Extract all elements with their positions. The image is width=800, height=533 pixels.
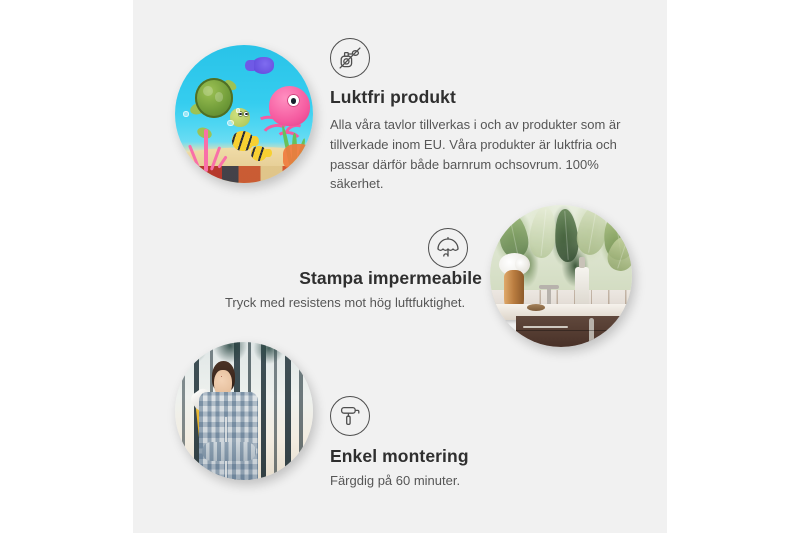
bathroom-artwork bbox=[490, 205, 632, 347]
turtle-shell bbox=[195, 78, 233, 118]
feature-description: Alla våra tavlor tillverkas i och av pro… bbox=[330, 115, 630, 194]
wallpaper-leaf bbox=[527, 206, 558, 259]
feature-title: Stampa impermeabile bbox=[200, 268, 490, 289]
umbrella-icon bbox=[428, 228, 468, 268]
angelfish bbox=[232, 131, 254, 152]
product-thumbnail-ocean[interactable] bbox=[175, 45, 313, 183]
vanity-drawer-seam bbox=[516, 330, 632, 331]
smile bbox=[221, 376, 222, 377]
no-fragrance-icon bbox=[330, 38, 370, 78]
bubble bbox=[183, 111, 189, 117]
icon-row bbox=[200, 228, 490, 268]
folded-arms bbox=[202, 442, 256, 461]
paint-roller-icon bbox=[330, 396, 370, 436]
feature-title: Luktfri produkt bbox=[330, 87, 630, 108]
octopus-head bbox=[269, 86, 310, 126]
feature-block-assembly: Enkel montering Färgdig på 60 minuter. bbox=[330, 396, 580, 491]
feature-block-waterproof: Stampa impermeabile Tryck med resistens … bbox=[200, 228, 490, 313]
ocean-artwork bbox=[175, 45, 313, 183]
octopus-eye bbox=[287, 94, 299, 107]
product-thumbnail-bathroom[interactable] bbox=[490, 205, 632, 347]
feature-description: Färgdig på 60 minuter. bbox=[330, 471, 580, 491]
blue-fish bbox=[252, 57, 274, 74]
infographic-canvas: Luktfri produkt Alla våra tavlor tillver… bbox=[0, 0, 800, 533]
feature-description: Tryck med resistens mot hög luftfuktighe… bbox=[200, 293, 490, 313]
soap-dispenser bbox=[575, 267, 589, 307]
feature-title: Enkel montering bbox=[330, 446, 580, 467]
woman-figure bbox=[192, 361, 269, 480]
feature-block-odourless: Luktfri produkt Alla våra tavlor tillver… bbox=[330, 38, 630, 194]
wood-vanity bbox=[516, 316, 632, 347]
coral-branch bbox=[186, 125, 227, 172]
turtle-eye bbox=[243, 111, 249, 117]
forest-artwork bbox=[175, 342, 313, 480]
plaid-shirt bbox=[199, 392, 258, 480]
starfish bbox=[283, 144, 313, 169]
product-thumbnail-forest[interactable] bbox=[175, 342, 313, 480]
